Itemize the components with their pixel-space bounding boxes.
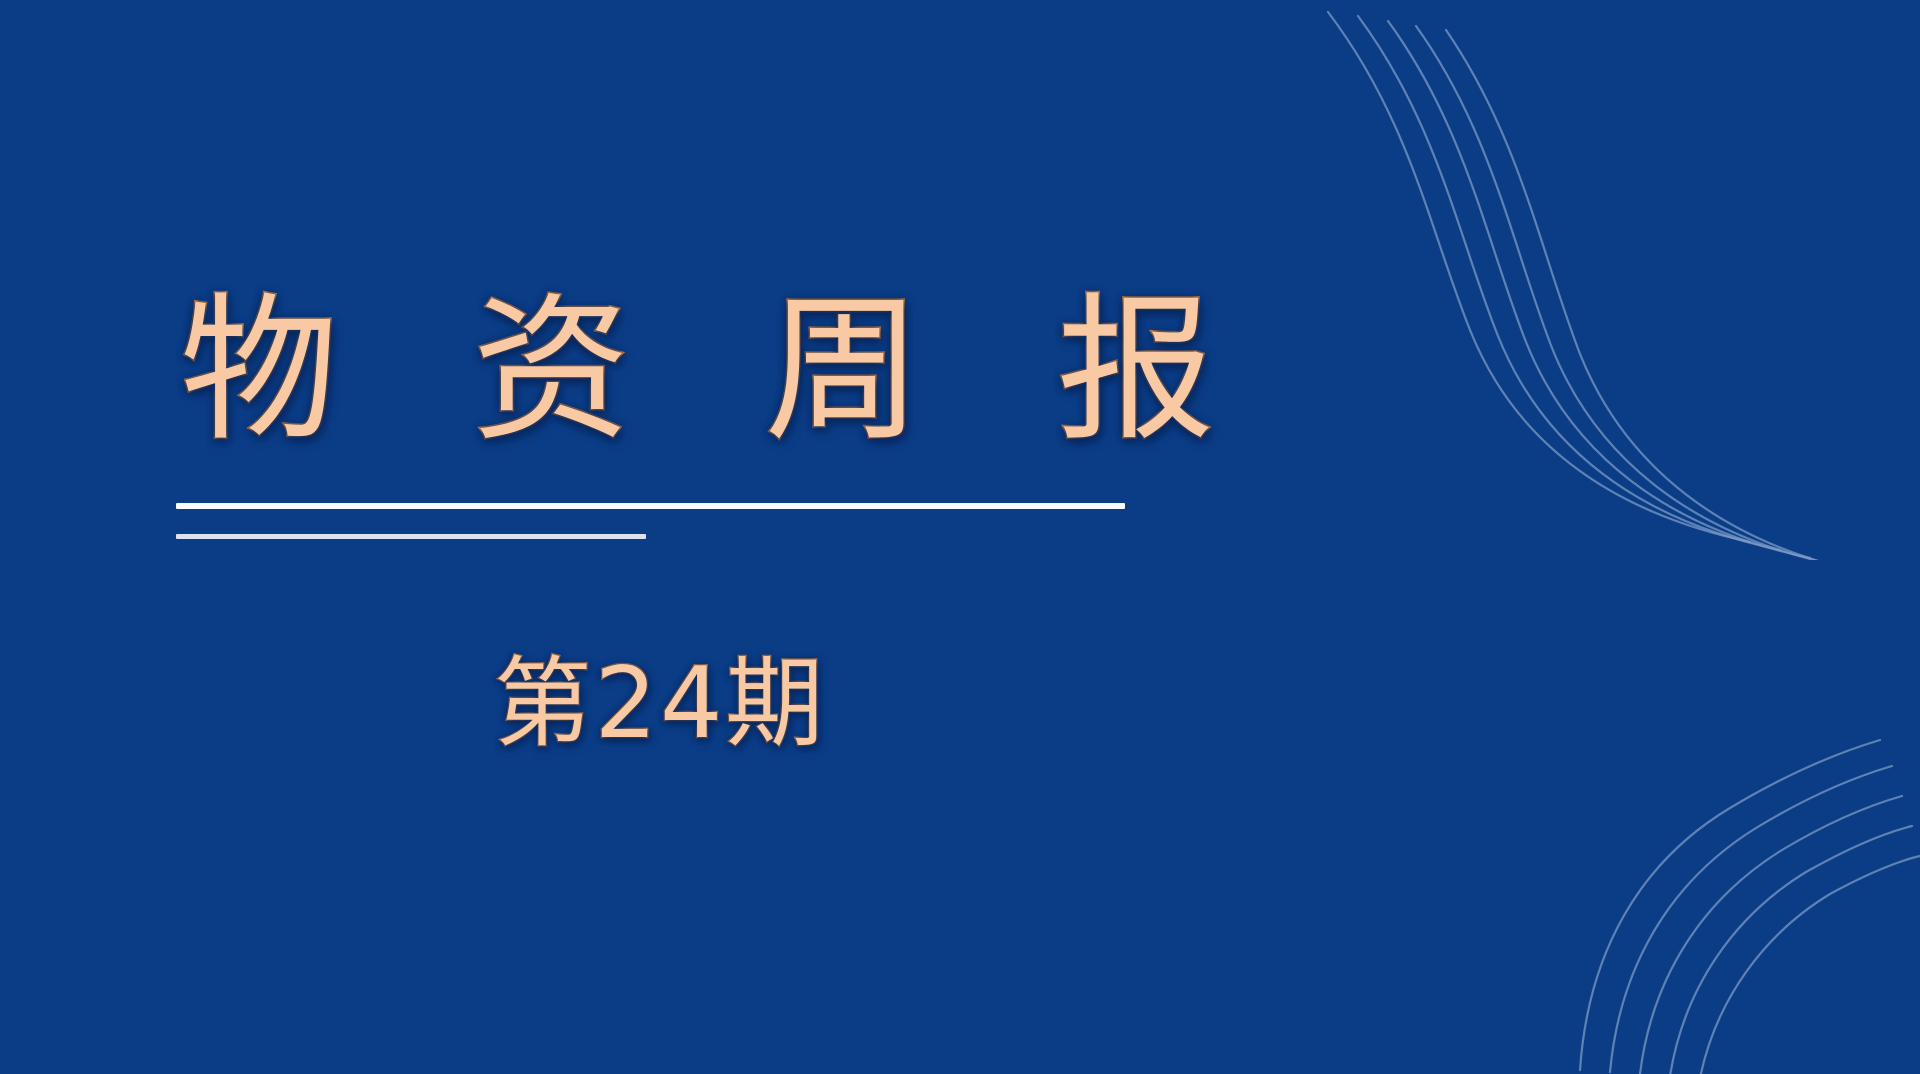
bottom-right-arc-ribbon [1280, 600, 1920, 1074]
wave-stroke-4 [1416, 26, 1840, 560]
arc-stroke-3 [1640, 796, 1902, 1074]
wave-stroke-5 [1446, 30, 1870, 560]
arc-stroke-2 [1610, 766, 1892, 1072]
subtitle-block: 第24期 [180, 655, 1140, 753]
page-title: 物 资 周 报 [180, 292, 1160, 450]
wave-stroke-2 [1358, 16, 1780, 550]
wave-stroke-1 [1328, 12, 1750, 542]
issue-number-label: 第24期 [494, 655, 827, 753]
title-underline-group [176, 503, 1136, 539]
wave-stroke-3 [1388, 21, 1810, 558]
title-block: 物 资 周 报 [180, 292, 1160, 450]
top-right-wave-ribbon [1280, 0, 1920, 560]
arc-stroke-4 [1670, 826, 1912, 1074]
title-slide: 物 资 周 报 第24期 [0, 0, 1920, 1074]
title-underline-primary [176, 503, 1125, 509]
arc-stroke-1 [1580, 740, 1880, 1070]
title-underline-secondary [176, 534, 646, 539]
arc-stroke-5 [1700, 856, 1920, 1074]
